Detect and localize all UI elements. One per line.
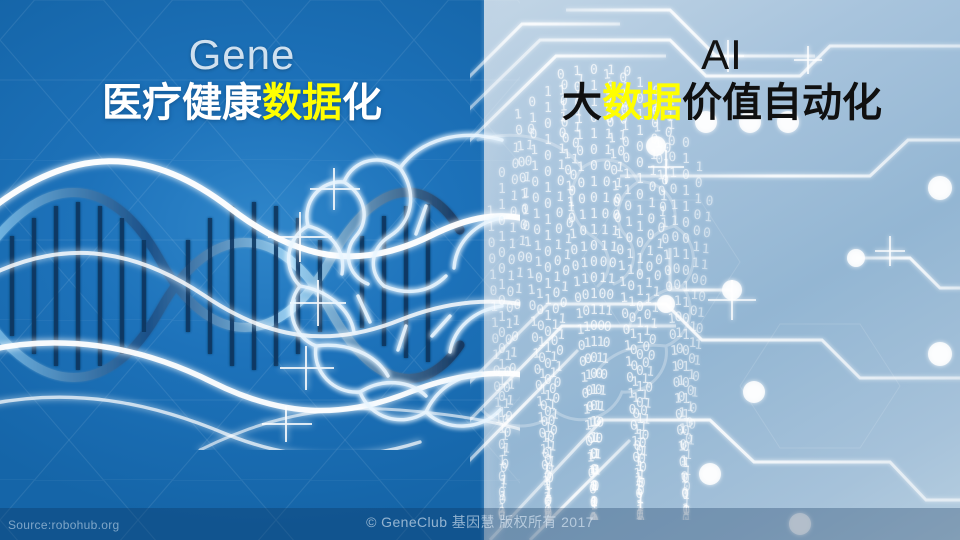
left-title-cn-post: 化 [342,81,382,125]
right-title-cn-pre: 大 [562,81,602,125]
left-title-cn-pre: 医疗健康 [102,81,262,125]
left-title-cn: 医疗健康数据化 [0,78,484,128]
right-title-cn-highlight: 数据 [602,81,682,125]
copyright-notice: © GeneClub 基因慧 版权所有 2017 [0,512,960,532]
right-title-en: AI [484,32,960,78]
right-title-block: AI 大数据价值自动化 [484,32,960,128]
right-title-cn: 大数据价值自动化 [484,78,960,128]
left-title-en: Gene [0,32,484,78]
brain-outline-right-icon [470,110,730,510]
left-title-cn-highlight: 数据 [262,81,342,125]
left-title-block: Gene 医疗健康数据化 [0,32,484,128]
right-title-cn-post: 价值自动化 [682,81,882,125]
slide-canvas: 1100101101001101101001010011011010010100… [0,0,960,540]
